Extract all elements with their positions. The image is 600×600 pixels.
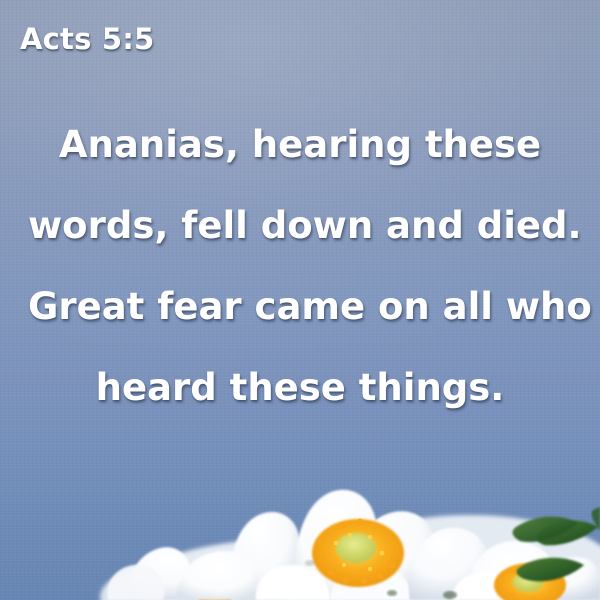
verse-line: Ananias, hearing these [28, 104, 572, 185]
verse-line: words, fell down and died. [28, 185, 572, 266]
verse-text-block: Ananias, hearing these words, fell down … [28, 104, 572, 428]
verse-line: Great fear came on all who [28, 266, 572, 347]
verse-image: Acts 5:5 Ananias, hearing these words, f… [0, 0, 600, 600]
verse-reference: Acts 5:5 [20, 22, 154, 56]
verse-line: heard these things. [28, 347, 572, 428]
